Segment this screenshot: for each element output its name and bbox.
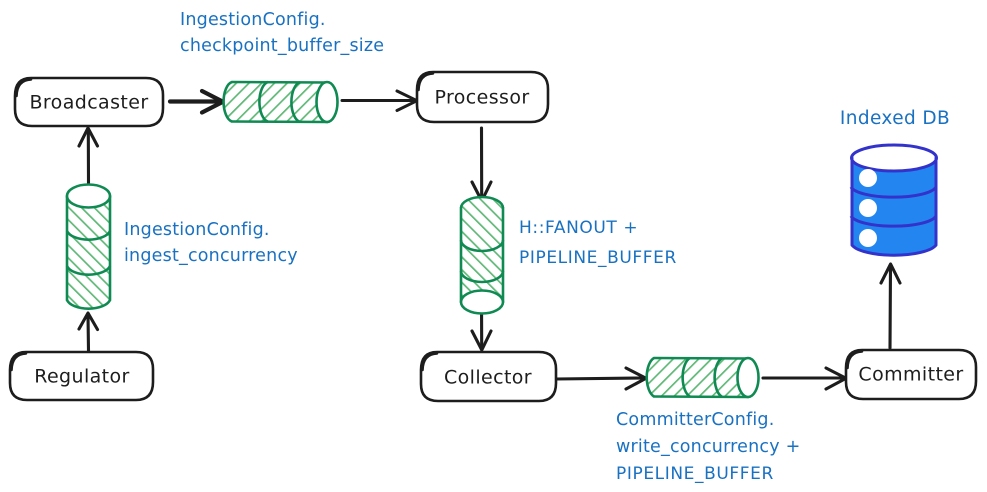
node-indexed-db-label: Indexed DB (840, 108, 950, 129)
annotation-fanout-line-1: H::FANOUT + (519, 218, 638, 238)
edge-regulator-to-ingest-buffer (79, 313, 98, 351)
buffer-fanout (461, 197, 503, 314)
annotation-write-line-1: CommitterConfig. (616, 410, 774, 430)
node-broadcaster[interactable]: Broadcaster (15, 78, 163, 126)
node-indexed-db[interactable]: Indexed DB (840, 108, 950, 255)
node-broadcaster-label: Broadcaster (29, 92, 148, 114)
db-indicator-light (859, 229, 877, 247)
node-committer[interactable]: Committer (846, 350, 976, 399)
node-committer-label: Committer (858, 364, 963, 386)
annotation-fanout: H::FANOUT + PIPELINE_BUFFER (519, 218, 677, 268)
node-processor[interactable]: Processor (417, 72, 548, 122)
buffer-checkpoint (224, 82, 338, 122)
annotation-ingest-line-1: IngestionConfig. (124, 220, 270, 240)
annotation-write-line-3: PIPELINE_BUFFER (616, 464, 774, 484)
node-processor-label: Processor (434, 87, 529, 109)
edge-write-buffer-to-committer (763, 368, 846, 389)
edge-committer-to-indexed-db (881, 264, 900, 348)
buffer-write (647, 358, 759, 397)
annotation-checkpoint-line-2: checkpoint_buffer_size (180, 36, 384, 56)
db-indicator-light (859, 169, 877, 187)
node-regulator-label: Regulator (34, 366, 130, 388)
diagram-svg: Broadcaster Processor Regulator Collecto… (0, 0, 987, 492)
edge-broadcaster-to-checkpoint-buffer (170, 91, 223, 113)
annotation-fanout-line-2: PIPELINE_BUFFER (519, 248, 677, 268)
db-indicator-light (859, 199, 877, 217)
annotation-write-line-2: write_concurrency + (616, 437, 800, 457)
edge-processor-to-fanout-buffer (472, 128, 491, 201)
node-collector[interactable]: Collector (421, 352, 556, 401)
annotation-checkpoint: IngestionConfig. checkpoint_buffer_size (180, 10, 384, 56)
diagram-canvas: Broadcaster Processor Regulator Collecto… (0, 0, 987, 492)
edge-collector-to-write-buffer (556, 368, 646, 389)
annotation-ingest-line-2: ingest_concurrency (124, 246, 298, 266)
db-top-ellipse (852, 145, 937, 171)
node-collector-label: Collector (444, 367, 532, 389)
annotation-checkpoint-line-1: IngestionConfig. (180, 10, 326, 30)
edge-ingest-buffer-to-broadcaster (79, 128, 98, 183)
buffer-ingest (67, 185, 110, 309)
node-regulator[interactable]: Regulator (10, 352, 153, 400)
annotation-write: CommitterConfig. write_concurrency + PIP… (616, 410, 800, 484)
edge-checkpoint-buffer-to-processor (342, 91, 417, 111)
annotation-ingest: IngestionConfig. ingest_concurrency (124, 220, 298, 266)
